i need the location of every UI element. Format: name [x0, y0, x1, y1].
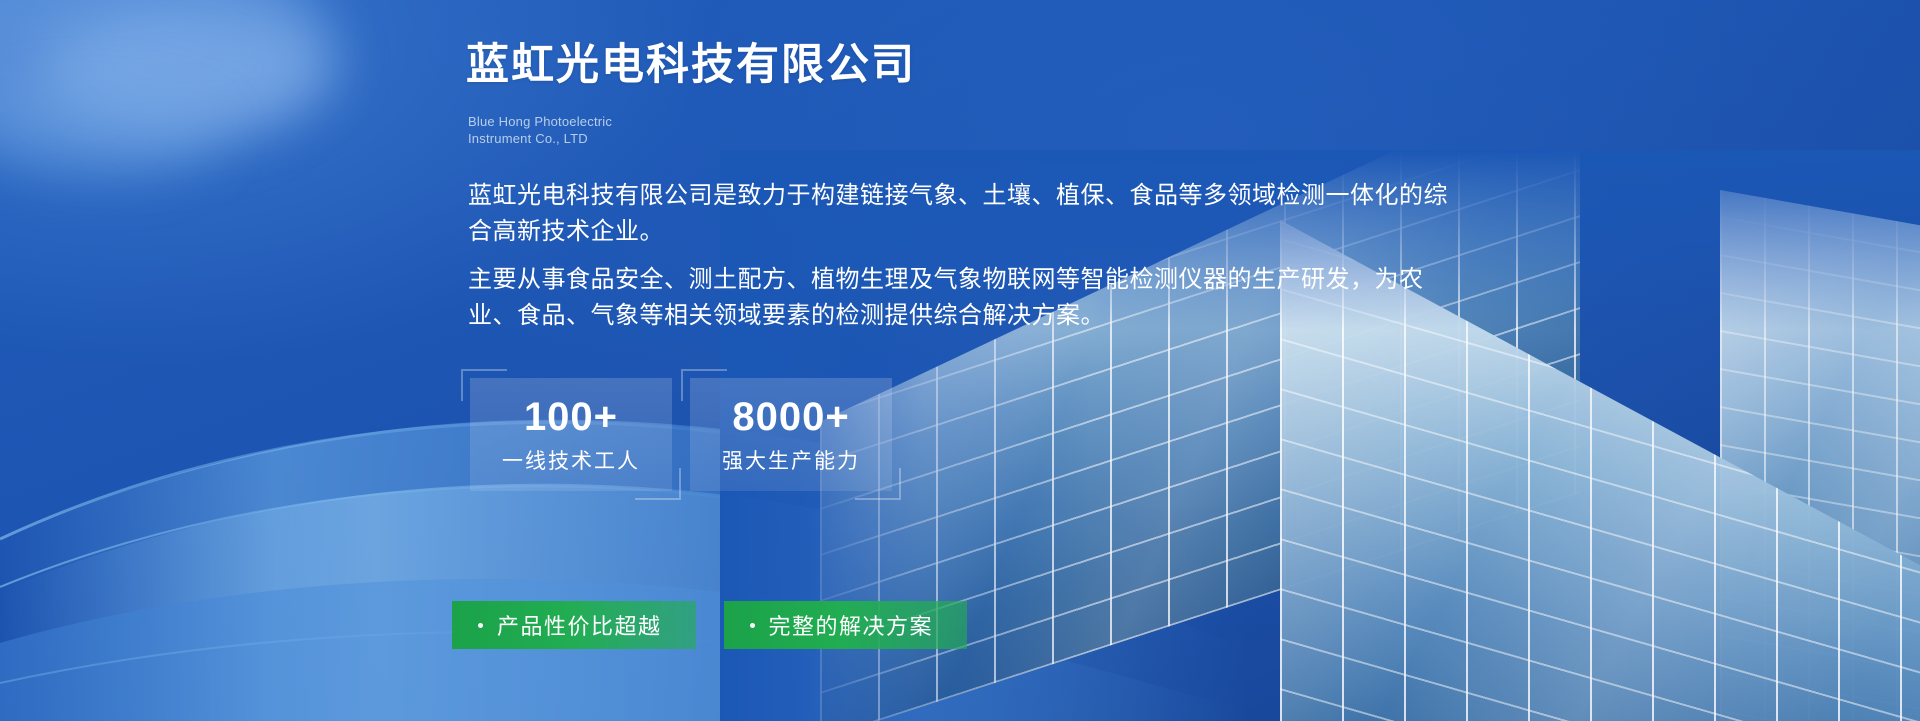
- intro-paragraph-2: 主要从事食品安全、测土配方、植物生理及气象物联网等智能检测仪器的生产研发，为农业…: [468, 262, 1453, 334]
- stat-number: 100+: [524, 397, 618, 437]
- feature-pill-group: 产品性价比超越 完整的解决方案: [452, 601, 967, 649]
- stat-card-group: 100+ 一线技术工人 8000+ 强大生产能力: [470, 378, 892, 491]
- company-name-en-line2: Instrument Co., LTD: [468, 130, 612, 147]
- stat-card: 100+ 一线技术工人: [470, 378, 672, 491]
- feature-pill-label: 产品性价比超越: [497, 609, 662, 641]
- hero-banner: 蓝虹光电科技有限公司 Blue Hong Photoelectric Instr…: [0, 0, 1920, 721]
- company-name-en: Blue Hong Photoelectric Instrument Co., …: [468, 113, 612, 147]
- bullet-dot-icon: [750, 623, 755, 628]
- intro-paragraph-1: 蓝虹光电科技有限公司是致力于构建链接气象、土壤、植保、食品等多领域检测一体化的综…: [468, 178, 1453, 250]
- stat-card: 8000+ 强大生产能力: [690, 378, 892, 491]
- company-name-cn: 蓝虹光电科技有限公司: [466, 40, 916, 92]
- company-name-en-line1: Blue Hong Photoelectric: [468, 113, 612, 130]
- stat-label: 强大生产能力: [722, 451, 860, 472]
- feature-pill-label: 完整的解决方案: [769, 609, 934, 641]
- stat-number: 8000+: [732, 397, 849, 437]
- stat-label: 一线技术工人: [502, 451, 640, 472]
- feature-pill[interactable]: 产品性价比超越: [452, 601, 696, 649]
- hero-content: 蓝虹光电科技有限公司 Blue Hong Photoelectric Instr…: [0, 0, 1920, 721]
- feature-pill[interactable]: 完整的解决方案: [724, 601, 968, 649]
- bullet-dot-icon: [478, 623, 483, 628]
